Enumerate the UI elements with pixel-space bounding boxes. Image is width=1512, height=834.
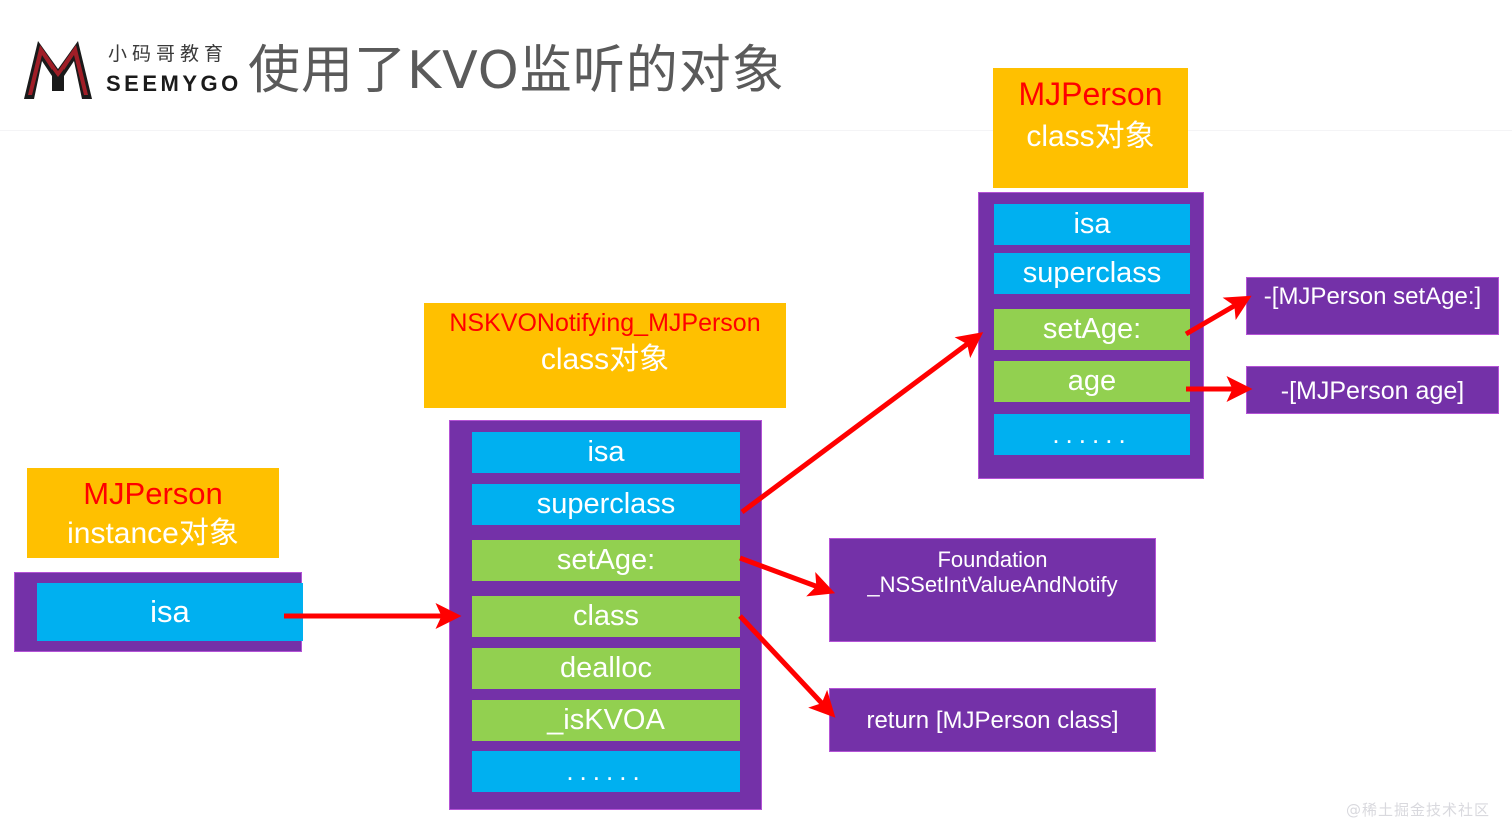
mjperson-class-object-box: isa superclass setAge: age ...... xyxy=(978,192,1204,479)
kvo-row-superclass: superclass xyxy=(472,484,740,525)
kvo-row-class: class xyxy=(472,596,740,637)
kvo-row-ellipsis: ...... xyxy=(472,751,740,792)
instance-object-label: MJPerson instance对象 xyxy=(27,468,279,558)
mjperson-row-ellipsis: ...... xyxy=(994,414,1190,455)
kvo-row-iskvoa: _isKVOA xyxy=(472,700,740,741)
instance-object-class-name: MJPerson xyxy=(27,474,279,514)
callout-setage-impl: -[MJPerson setAge:] xyxy=(1246,277,1499,335)
slide-canvas: 小码哥教育 SEEMYGO 使用了KVO监听的对象 MJPerson insta… xyxy=(0,0,1512,834)
watermark: @稀土掘金技术社区 xyxy=(1346,799,1490,820)
mjperson-row-ellipsis-text: ...... xyxy=(1052,419,1131,449)
kvo-class-object-label: NSKVONotifying_MJPerson class对象 xyxy=(424,303,786,408)
mjperson-class-object-label: MJPerson class对象 xyxy=(993,68,1188,188)
mjperson-row-superclass: superclass xyxy=(994,253,1190,294)
kvo-class-object-box: isa superclass setAge: class dealloc _is… xyxy=(449,420,762,810)
brand-logo: 小码哥教育 SEEMYGO xyxy=(22,33,232,105)
kvo-class-object-class-name: NSKVONotifying_MJPerson xyxy=(424,307,786,340)
kvo-class-object-kind: class对象 xyxy=(424,340,786,380)
instance-object-kind: instance对象 xyxy=(27,514,279,554)
kvo-row-isa: isa xyxy=(472,432,740,473)
logo-english-text: SEEMYGO xyxy=(106,71,242,97)
page-title: 使用了KVO监听的对象 xyxy=(248,28,785,103)
instance-object-box: isa xyxy=(14,572,302,652)
header-divider xyxy=(0,130,1512,131)
mjperson-row-age: age xyxy=(994,361,1190,402)
mjperson-row-isa: isa xyxy=(994,204,1190,245)
kvo-row-setage: setAge: xyxy=(472,540,740,581)
mjperson-row-setage: setAge: xyxy=(994,309,1190,350)
seemygo-m-logo-icon xyxy=(22,35,94,101)
callout-class-impl: return [MJPerson class] xyxy=(829,688,1156,752)
kvo-row-ellipsis-text: ...... xyxy=(566,756,645,786)
kvo-row-dealloc: dealloc xyxy=(472,648,740,689)
mjperson-class-object-kind: class对象 xyxy=(993,116,1188,158)
instance-row-isa: isa xyxy=(37,583,303,641)
mjperson-class-object-class-name: MJPerson xyxy=(993,72,1188,116)
callout-age-impl: -[MJPerson age] xyxy=(1246,366,1499,414)
callout-foundation-impl: Foundation _NSSetIntValueAndNotify xyxy=(829,538,1156,642)
logo-chinese-text: 小码哥教育 xyxy=(108,39,228,66)
